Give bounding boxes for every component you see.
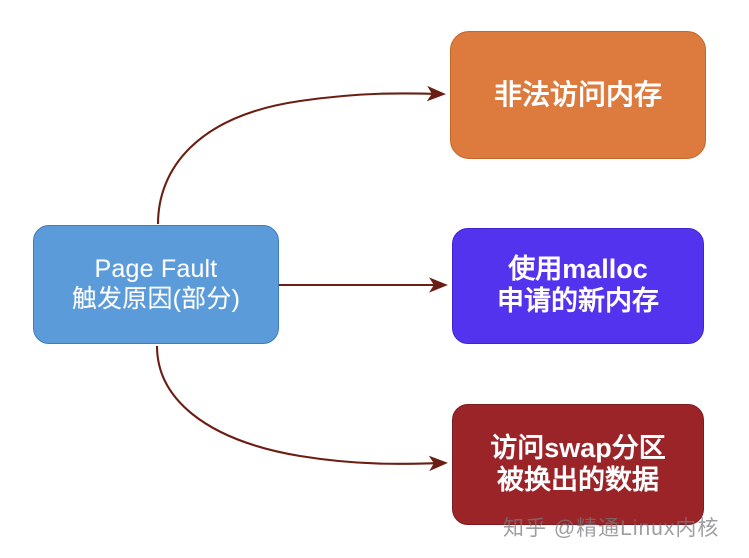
edge-source-to-illegal-access [158, 93, 443, 224]
watermark-text: 知乎 @精通Linux内核 [503, 512, 719, 542]
node-illegal-memory-access[interactable]: 非法访问内存 [450, 31, 706, 159]
edge-source-to-swap [157, 346, 445, 464]
node-swap-partition-access-line-1: 访问swap分区 [490, 433, 666, 465]
node-malloc-new-memory[interactable]: 使用malloc 申请的新内存 [452, 228, 704, 344]
node-malloc-new-memory-line-1: 使用malloc [508, 254, 648, 286]
node-page-fault-source-line-2: 触发原因(部分) [72, 285, 240, 315]
node-illegal-memory-access-line-1: 非法访问内存 [494, 78, 662, 111]
node-page-fault-source[interactable]: Page Fault 触发原因(部分) [33, 225, 279, 344]
node-swap-partition-access[interactable]: 访问swap分区 被换出的数据 [452, 404, 704, 525]
node-page-fault-source-line-1: Page Fault [95, 255, 218, 285]
diagram-canvas: Page Fault 触发原因(部分) 非法访问内存 使用malloc 申请的新… [0, 0, 749, 558]
node-malloc-new-memory-line-2: 申请的新内存 [497, 286, 659, 318]
node-swap-partition-access-line-2: 被换出的数据 [497, 465, 659, 497]
